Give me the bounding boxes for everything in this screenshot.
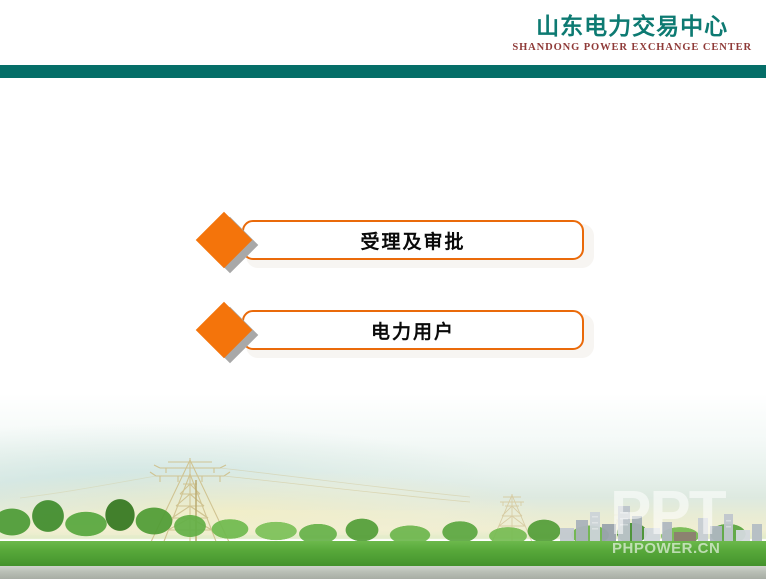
item-label: 电力用户 bbox=[242, 310, 584, 350]
header: 山东电力交易中心 SHANDONG POWER EXCHANGE CENTER bbox=[0, 0, 766, 65]
grass-strip bbox=[0, 541, 766, 569]
list-item[interactable]: 电力用户 bbox=[196, 306, 596, 368]
brand-logo-english: SHANDONG POWER EXCHANGE CENTER bbox=[512, 43, 752, 54]
item-label: 受理及审批 bbox=[242, 220, 584, 260]
header-divider-bar bbox=[0, 65, 766, 78]
slide-canvas: 山东电力交易中心 SHANDONG POWER EXCHANGE CENTER … bbox=[0, 0, 766, 579]
brand-logo-chinese: 山东电力交易中心 bbox=[512, 16, 752, 39]
tree-line-left bbox=[0, 488, 320, 546]
road-strip bbox=[0, 566, 766, 579]
list-item[interactable]: 受理及审批 bbox=[196, 216, 596, 278]
brand-logo: 山东电力交易中心 SHANDONG POWER EXCHANGE CENTER bbox=[512, 16, 752, 54]
